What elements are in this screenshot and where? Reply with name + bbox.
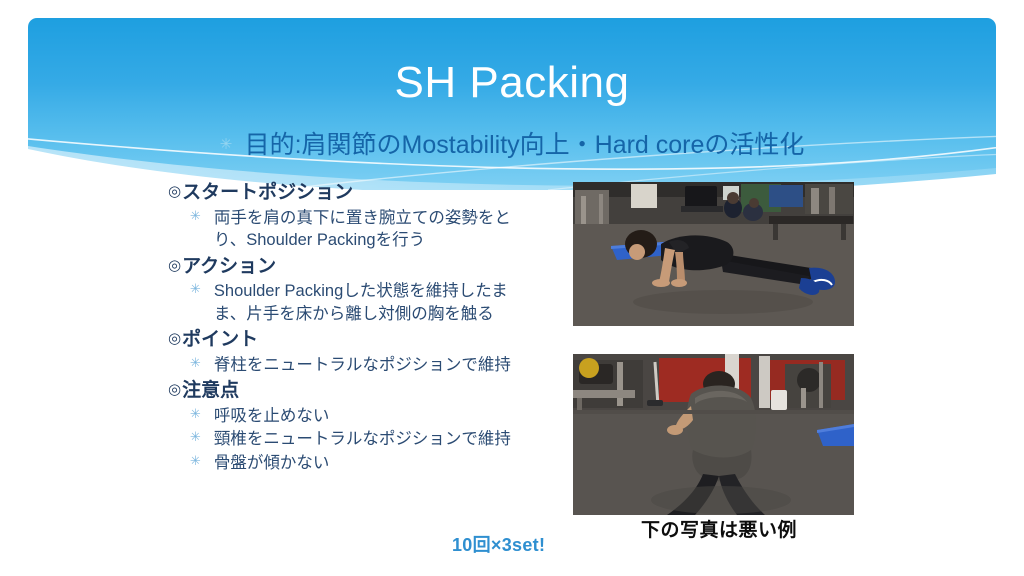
section-heading: ◎ ポイント <box>168 327 568 353</box>
asterisk-bullet-icon: ✳ <box>190 452 201 471</box>
asterisk-bullet-icon: ✳ <box>190 280 201 299</box>
list-item-label: 頸椎をニュートラルなポジションで維持 <box>214 428 568 450</box>
double-circle-bullet-icon: ◎ <box>168 254 181 278</box>
exercise-photo-bad-example <box>573 354 854 515</box>
asterisk-bullet-icon: ✳ <box>190 428 201 447</box>
list-item: ✳ 脊柱をニュートラルなポジションで維持 <box>168 354 568 376</box>
double-circle-bullet-icon: ◎ <box>168 327 181 351</box>
list-item-label: 脊柱をニュートラルなポジションで維持 <box>214 354 568 376</box>
asterisk-bullet-icon: ✳ <box>190 207 201 226</box>
list-item-label: Shoulder Packingした状態を維持したまま、片手を床から離し対側の胸… <box>214 280 534 325</box>
section-heading-label: スタートポジション <box>182 180 353 206</box>
double-circle-bullet-icon: ◎ <box>168 378 181 402</box>
list-item-label: 両手を肩の真下に置き腕立ての姿勢をとり、Shoulder Packingを行う <box>214 207 534 252</box>
section-heading: ◎ 注意点 <box>168 378 568 404</box>
section-heading-label: 注意点 <box>182 378 239 404</box>
exercise-photo-good-example <box>573 182 854 326</box>
reps-label: 10回×3set! <box>452 531 545 557</box>
list-item: ✳ 頸椎をニュートラルなポジションで維持 <box>168 428 568 450</box>
list-item: ✳ 両手を肩の真下に置き腕立ての姿勢をとり、Shoulder Packingを行… <box>168 207 568 252</box>
page-title: SH Packing <box>28 60 996 106</box>
page-subtitle: 目的:肩関節のMostability向上・Hard coreの活性化 <box>245 125 805 161</box>
photo-bottom-graphic <box>573 354 854 515</box>
section-heading-label: アクション <box>182 254 276 280</box>
section-heading: ◎ スタートポジション <box>168 180 568 206</box>
double-circle-bullet-icon: ◎ <box>168 180 181 204</box>
list-item: ✳ Shoulder Packingした状態を維持したまま、片手を床から離し対側… <box>168 280 568 325</box>
section-heading-label: ポイント <box>182 327 258 353</box>
title-banner: SH Packing ✳ 目的:肩関節のMostability向上・Hard c… <box>28 18 996 190</box>
photo-top-graphic <box>573 182 854 326</box>
asterisk-bullet-icon: ✳ <box>190 405 201 424</box>
subtitle-row: ✳ 目的:肩関節のMostability向上・Hard coreの活性化 <box>28 125 996 161</box>
section-heading: ◎ アクション <box>168 254 568 280</box>
photo-caption: 下の写真は悪い例 <box>641 515 797 542</box>
list-item-label: 呼吸を止めない <box>214 405 568 427</box>
asterisk-bullet-icon: ✳ <box>220 135 233 153</box>
asterisk-bullet-icon: ✳ <box>190 354 201 373</box>
list-item: ✳ 呼吸を止めない <box>168 405 568 427</box>
content-bullet-list: ◎ スタートポジション ✳ 両手を肩の真下に置き腕立ての姿勢をとり、Should… <box>168 178 568 475</box>
slide: SH Packing ✳ 目的:肩関節のMostability向上・Hard c… <box>0 0 1024 576</box>
list-item-label: 骨盤が傾かない <box>214 452 568 474</box>
list-item: ✳ 骨盤が傾かない <box>168 452 568 474</box>
